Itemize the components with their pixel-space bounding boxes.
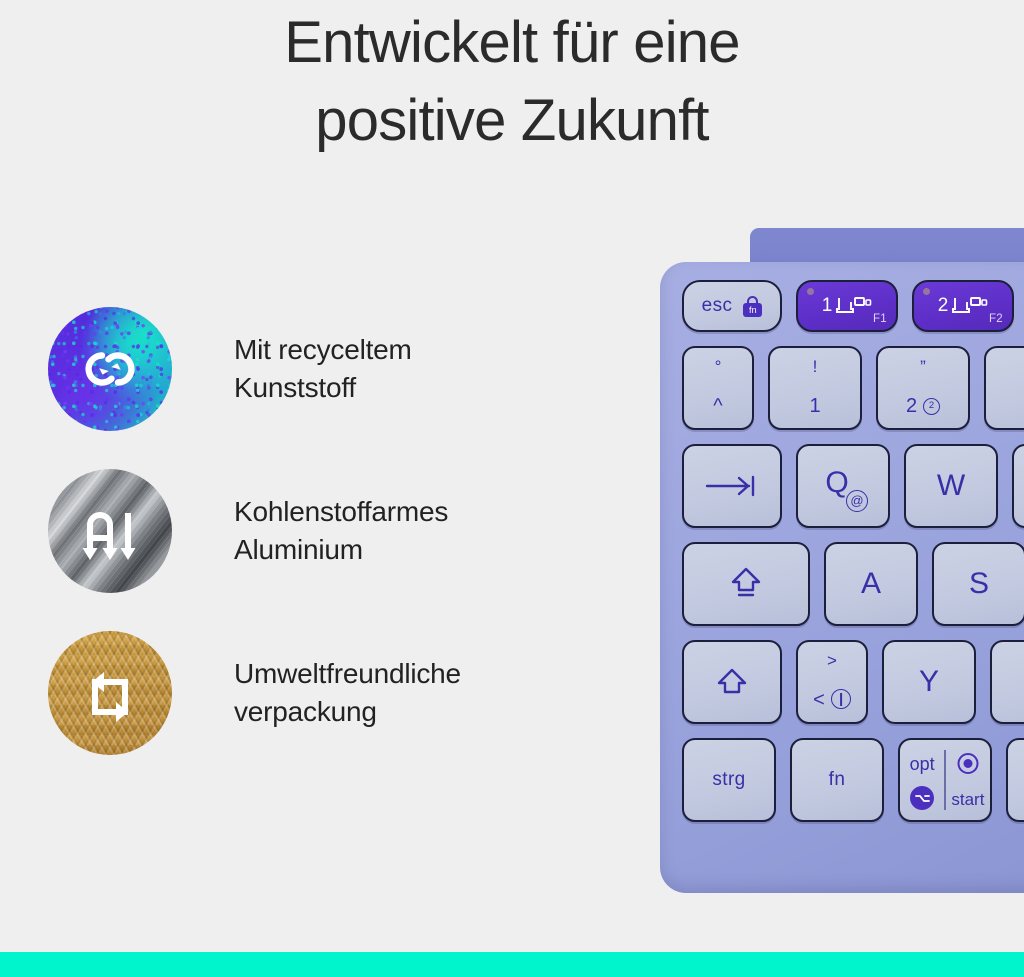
start-circle-icon	[957, 753, 978, 774]
backlight-dot-icon	[923, 288, 930, 295]
backlight-dot-icon	[807, 288, 814, 295]
key-x[interactable]	[990, 640, 1024, 724]
feature-label-low-carbon-aluminium: Kohlenstoffarmes Aluminium	[234, 493, 448, 569]
key-f2[interactable]: 2 F2	[912, 280, 1014, 332]
key-less-legend: <	[798, 689, 866, 712]
keyboard-row-tab: Q @ W	[682, 444, 1024, 528]
key-capslock[interactable]	[682, 542, 810, 626]
feature-label-recycled-plastic: Mit recyceltem Kunststoff	[234, 331, 412, 407]
key-1[interactable]: ! 1	[768, 346, 862, 430]
keyboard-product-image: esc fn 1	[660, 228, 1024, 893]
headline-line-2: positive Zukunft	[0, 82, 1024, 160]
key-opt-half[interactable]: opt	[900, 740, 944, 820]
key-a[interactable]: A	[824, 542, 918, 626]
keyboard-row-function: esc fn 1	[682, 280, 1024, 332]
key-f1[interactable]: 1 F1	[796, 280, 898, 332]
key-tab[interactable]	[682, 444, 782, 528]
keyboard-row-numbers: ° ^ ! 1 ” 22	[682, 346, 1024, 430]
superscript-two-icon: 2	[923, 398, 940, 415]
device-switch-icon	[836, 296, 872, 316]
key-q[interactable]: Q @	[796, 444, 890, 528]
key-fn[interactable]: fn	[790, 738, 884, 822]
low-carbon-aluminium-icon	[48, 469, 172, 593]
keyboard-row-shift: > < Y	[682, 640, 1024, 724]
feature-item-recycled-plastic: Mit recyceltem Kunststoff	[48, 288, 608, 450]
keyboard-row-bottom: strg fn opt	[682, 738, 1024, 822]
key-3[interactable]	[984, 346, 1024, 430]
recycled-plastic-icon	[48, 307, 172, 431]
at-symbol-icon: @	[846, 490, 868, 512]
page-title: Entwickelt für eine positive Zukunft	[0, 4, 1024, 160]
device-switch-icon	[952, 296, 988, 316]
key-opt-start[interactable]: opt start	[898, 738, 992, 822]
tab-arrow-icon	[705, 475, 759, 497]
capslock-arrow-icon	[729, 566, 763, 602]
fn-lock-icon: fn	[743, 296, 762, 317]
key-esc[interactable]: esc fn	[682, 280, 782, 332]
feature-item-low-carbon-aluminium: Kohlenstoffarmes Aluminium	[48, 450, 608, 612]
bottom-accent-bar	[0, 952, 1024, 977]
key-2-legend: 22	[878, 395, 968, 418]
eco-packaging-icon	[48, 631, 172, 755]
key-cmd[interactable]: ⌘ cm	[1006, 738, 1024, 822]
key-strg[interactable]: strg	[682, 738, 776, 822]
key-e[interactable]	[1012, 444, 1024, 528]
key-circumflex[interactable]: ° ^	[682, 346, 754, 430]
shift-arrow-icon	[716, 667, 748, 697]
feature-label-eco-packaging: Umweltfreundliche verpackung	[234, 655, 461, 731]
headline-line-1: Entwickelt für eine	[0, 4, 1024, 82]
keyboard-row-home: A S	[682, 542, 1024, 626]
key-2[interactable]: ” 22	[876, 346, 970, 430]
key-start-half[interactable]: start	[946, 740, 990, 820]
keyboard-body: esc fn 1	[660, 262, 1024, 893]
key-s[interactable]: S	[932, 542, 1024, 626]
key-y[interactable]: Y	[882, 640, 976, 724]
feature-item-eco-packaging: Umweltfreundliche verpackung	[48, 612, 608, 774]
alt-symbol-icon	[910, 786, 934, 810]
key-w[interactable]: W	[904, 444, 998, 528]
pipe-circle-icon	[831, 689, 851, 709]
key-less-greater[interactable]: > <	[796, 640, 868, 724]
product-feature-panel: Entwickelt für eine positive Zukunft Mit…	[0, 0, 1024, 977]
key-shift-left[interactable]	[682, 640, 782, 724]
feature-list: Mit recyceltem Kunststoff	[48, 288, 608, 774]
